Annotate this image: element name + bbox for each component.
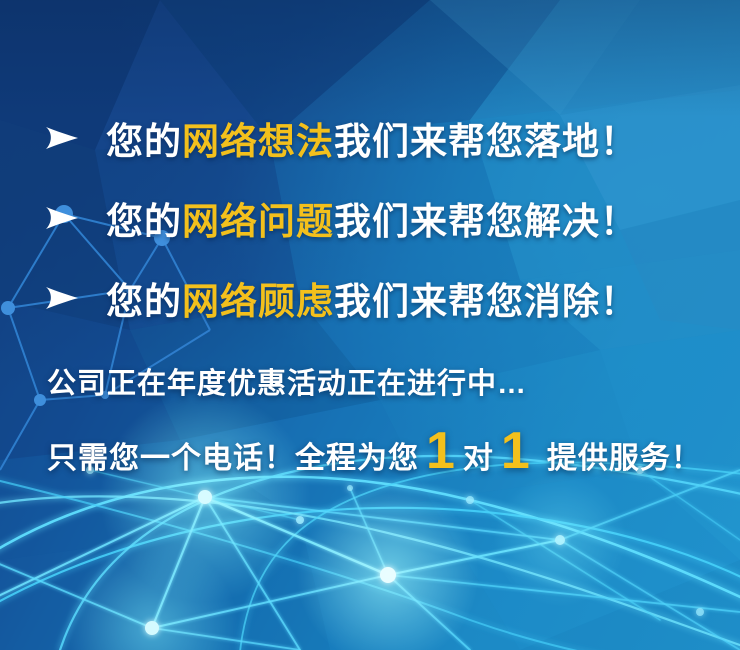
subline-2-number-2: 1: [494, 428, 538, 475]
headline-row-2: 您的网络问题我们来帮您解决！: [0, 178, 740, 258]
headline-text-3: 您的网络顾虑我们来帮您消除！: [106, 271, 638, 325]
headline-3-emphasis: 网络顾虑: [182, 281, 334, 322]
headline-2-emphasis: 网络问题: [182, 201, 334, 242]
banner-content: 您的网络想法我们来帮您落地！ 您的网络问题我们来帮您解决！ 您的网络顾虑我们来帮…: [0, 0, 740, 650]
headline-2-prefix: 您的: [106, 201, 182, 242]
headline-list: 您的网络想法我们来帮您落地！ 您的网络问题我们来帮您解决！ 您的网络顾虑我们来帮…: [0, 98, 740, 338]
headline-text-2: 您的网络问题我们来帮您解决！: [106, 191, 638, 245]
headline-3-prefix: 您的: [106, 281, 182, 322]
promo-subline-2: 只需您一个电话！全程为您 1 对 1 提供服务！: [47, 428, 702, 477]
promo-subline-1: 公司正在年度优惠活动正在进行中…: [47, 360, 527, 402]
subline-2-part2: 对: [463, 433, 494, 477]
subline-2-part3: 提供服务！: [547, 433, 702, 477]
headline-2-suffix: 我们来帮您解决！: [334, 201, 638, 242]
headline-1-suffix: 我们来帮您落地！: [334, 121, 638, 162]
promo-banner: 您的网络想法我们来帮您落地！ 您的网络问题我们来帮您解决！ 您的网络顾虑我们来帮…: [0, 0, 740, 650]
headline-row-3: 您的网络顾虑我们来帮您消除！: [0, 258, 740, 338]
headline-row-1: 您的网络想法我们来帮您落地！: [0, 98, 740, 178]
headline-3-suffix: 我们来帮您消除！: [334, 281, 638, 322]
headline-text-1: 您的网络想法我们来帮您落地！: [106, 111, 638, 165]
headline-1-emphasis: 网络想法: [182, 121, 334, 162]
arrow-right-icon: [44, 125, 80, 151]
headline-1-prefix: 您的: [106, 121, 182, 162]
subline-2-number-1: 1: [419, 428, 463, 475]
arrow-right-icon: [44, 285, 80, 311]
arrow-right-icon: [44, 205, 80, 231]
subline-2-part1: 只需您一个电话！全程为您: [47, 433, 419, 477]
